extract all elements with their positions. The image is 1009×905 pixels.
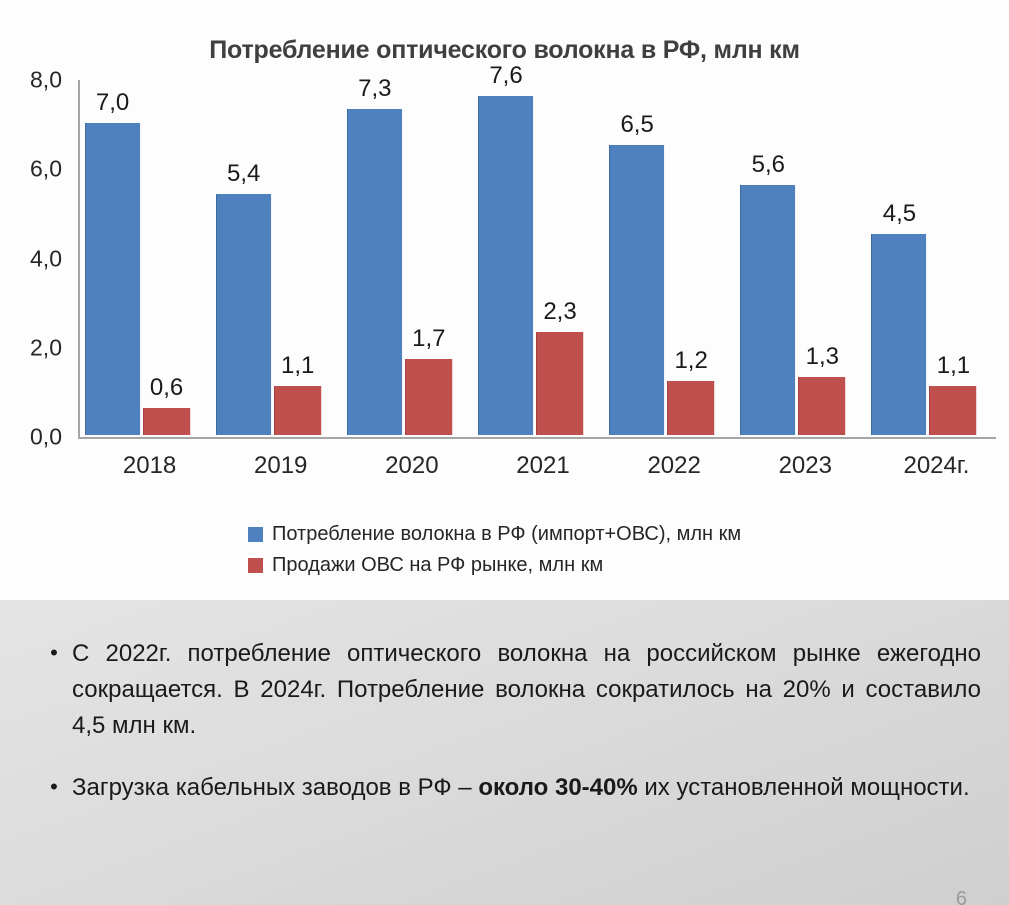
bar-value-label: 7,6 bbox=[489, 62, 522, 90]
x-axis-tick-label: 2018 bbox=[123, 452, 176, 480]
bar bbox=[347, 109, 403, 435]
bar-value-label: 5,6 bbox=[752, 151, 785, 179]
bullet-text: С 2022г. потребление оптического волокна… bbox=[72, 636, 981, 744]
bar bbox=[85, 123, 141, 435]
bullet-text-segment: Загрузка кабельных заводов в РФ – bbox=[72, 774, 478, 801]
x-axis-tick-label: 2022 bbox=[647, 452, 700, 480]
x-axis-line bbox=[78, 437, 996, 439]
bar-value-label: 7,0 bbox=[96, 89, 129, 117]
slide: Потребление оптического волокна в РФ, мл… bbox=[0, 0, 1009, 905]
bar-value-label: 0,6 bbox=[150, 374, 183, 402]
bar bbox=[143, 408, 191, 435]
bullet-marker-icon: • bbox=[36, 770, 72, 806]
chart-title: Потребление оптического волокна в РФ, мл… bbox=[0, 36, 1009, 65]
bar bbox=[536, 332, 584, 435]
bar bbox=[478, 96, 534, 435]
y-axis-tick-label: 2,0 bbox=[30, 334, 62, 361]
bar-value-label: 4,5 bbox=[883, 200, 916, 228]
bullet-item: •Загрузка кабельных заводов в РФ – около… bbox=[36, 770, 981, 806]
legend-item[interactable]: Продажи ОВС на РФ рынке, млн км bbox=[248, 554, 741, 577]
x-axis-tick-label: 2020 bbox=[385, 452, 438, 480]
bar bbox=[871, 234, 927, 435]
bar bbox=[216, 194, 272, 435]
bar-value-label: 1,1 bbox=[281, 352, 314, 380]
y-axis-tick-label: 6,0 bbox=[30, 156, 62, 183]
bar-value-label: 1,3 bbox=[806, 343, 839, 371]
bullet-item: •С 2022г. потребление оптического волокн… bbox=[36, 636, 981, 744]
legend-swatch-icon bbox=[248, 558, 263, 573]
chart-panel: Потребление оптического волокна в РФ, мл… bbox=[0, 0, 1009, 600]
bar-value-label: 7,3 bbox=[358, 75, 391, 103]
x-axis-tick-label: 2024г. bbox=[903, 452, 969, 480]
bar-value-label: 1,7 bbox=[412, 325, 445, 353]
legend-item-label: Продажи ОВС на РФ рынке, млн км bbox=[272, 554, 603, 577]
bar bbox=[274, 386, 322, 435]
bar-value-label: 6,5 bbox=[620, 111, 653, 139]
bar bbox=[929, 386, 977, 435]
y-axis-tick-label: 8,0 bbox=[30, 67, 62, 94]
bar-value-label: 1,1 bbox=[937, 352, 970, 380]
bar-value-label: 2,3 bbox=[543, 298, 576, 326]
y-axis-tick-label: 4,0 bbox=[30, 245, 62, 272]
legend-swatch-icon bbox=[248, 527, 263, 542]
bar-value-label: 1,2 bbox=[674, 347, 707, 375]
bullet-text-emphasis: около 30-40% bbox=[478, 774, 637, 801]
chart-plot-area: 0,02,04,06,08,0 7,00,65,41,17,31,77,62,3… bbox=[78, 80, 996, 437]
bar bbox=[798, 377, 846, 435]
x-axis-tick-label: 2019 bbox=[254, 452, 307, 480]
bar bbox=[405, 359, 453, 435]
x-axis-tick-label: 2021 bbox=[516, 452, 569, 480]
y-axis-line bbox=[78, 80, 80, 437]
y-axis-tick-label: 0,0 bbox=[30, 424, 62, 451]
legend-item[interactable]: Потребление волокна в РФ (импорт+ОВС), м… bbox=[248, 523, 741, 546]
bullet-text-segment: С 2022г. потребление оптического волокна… bbox=[72, 640, 981, 739]
bullet-marker-icon: • bbox=[36, 636, 72, 744]
bar-value-label: 5,4 bbox=[227, 160, 260, 188]
bullet-text-segment: их установленной мощности. bbox=[638, 774, 970, 801]
legend-item-label: Потребление волокна в РФ (импорт+ОВС), м… bbox=[272, 523, 741, 546]
chart-legend: Потребление волокна в РФ (импорт+ОВС), м… bbox=[248, 523, 741, 585]
page-number: 6 bbox=[956, 888, 967, 905]
bullet-text: Загрузка кабельных заводов в РФ – около … bbox=[72, 770, 981, 806]
bar bbox=[667, 381, 715, 435]
x-axis-tick-label: 2023 bbox=[779, 452, 832, 480]
bar bbox=[609, 145, 665, 435]
bar bbox=[740, 185, 796, 435]
bullet-list: •С 2022г. потребление оптического волокн… bbox=[36, 636, 981, 832]
